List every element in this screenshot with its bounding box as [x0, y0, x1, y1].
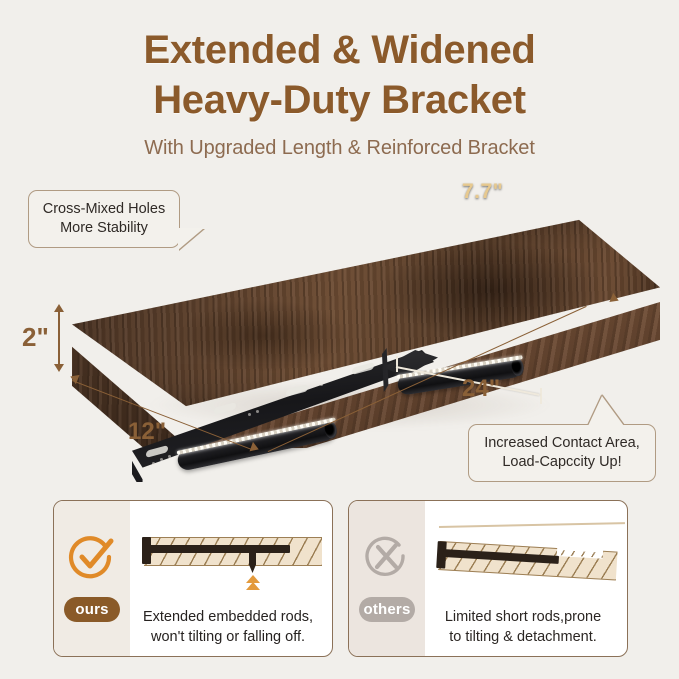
rod-measure-tick-left — [396, 356, 398, 372]
diagram-others — [425, 501, 627, 593]
diagram-ours — [130, 501, 332, 593]
callout-tail-increased-contact-area — [588, 396, 624, 426]
bracket-hole — [256, 410, 259, 413]
check-circle-icon — [68, 533, 116, 581]
reference-line — [439, 522, 625, 527]
bracket-hole — [160, 458, 163, 461]
bracket-hole — [168, 455, 171, 458]
header: Extended & Widened Heavy-Duty Bracket Wi… — [0, 26, 679, 160]
callout-cross-mixed-holes: Cross-Mixed Holes More Stability — [28, 190, 180, 248]
screw-icon — [249, 551, 256, 573]
bracket-hole — [248, 413, 251, 416]
dimension-label-thickness: 2" — [22, 322, 49, 353]
dimension-label-depth: 12" — [128, 418, 166, 446]
bracket-hole — [320, 383, 323, 386]
caption-ours: Extended embedded rods, won't tilting or… — [130, 607, 326, 647]
callout-increased-contact-area: Increased Contact Area, Load-Capccity Up… — [468, 424, 656, 482]
dimension-line-thickness — [58, 310, 60, 366]
callout-tail-cross-mixed-holes — [178, 228, 204, 250]
comparison-panel-ours: ours Extended embedded rods, won't tilti… — [53, 500, 333, 657]
bracket-hole — [152, 462, 155, 465]
badge-ours: ours — [64, 597, 120, 622]
page-title-line2: Heavy-Duty Bracket — [0, 76, 679, 124]
dimension-label-width: 24" — [462, 375, 500, 403]
page-subtitle: With Upgraded Length & Reinforced Bracke… — [0, 136, 679, 160]
caption-line1: Limited short rods,prone — [425, 607, 621, 627]
callout-line1: Cross-Mixed Holes — [41, 200, 167, 219]
embedded-rod — [148, 545, 290, 553]
dimension-arrow-up — [54, 304, 64, 312]
callout-line2: Load-Capccity Up! — [481, 453, 643, 472]
caption-line2: won't tilting or falling off. — [130, 627, 326, 647]
callout-line2: More Stability — [41, 219, 167, 238]
comparison-panels: ours Extended embedded rods, won't tilti… — [0, 500, 679, 665]
product-infographic: Extended & Widened Heavy-Duty Bracket Wi… — [0, 0, 679, 679]
page-title-line1: Extended & Widened — [0, 26, 679, 74]
caption-line2: to tilting & detachment. — [425, 627, 621, 647]
caption-line1: Extended embedded rods, — [130, 607, 326, 627]
upward-chevron-icon — [246, 582, 260, 590]
dimension-arrow-down — [54, 364, 64, 372]
dimension-label-rod-length: 7.7" — [462, 180, 503, 204]
comparison-panel-others: others Limited short rods,prone to tilti… — [348, 500, 628, 657]
x-circle-icon — [363, 533, 411, 581]
caption-others: Limited short rods,prone to tilting & de… — [425, 607, 621, 647]
rod-measure-tick-right — [540, 388, 542, 404]
badge-others: others — [359, 597, 415, 622]
callout-line1: Increased Contact Area, — [481, 434, 643, 453]
